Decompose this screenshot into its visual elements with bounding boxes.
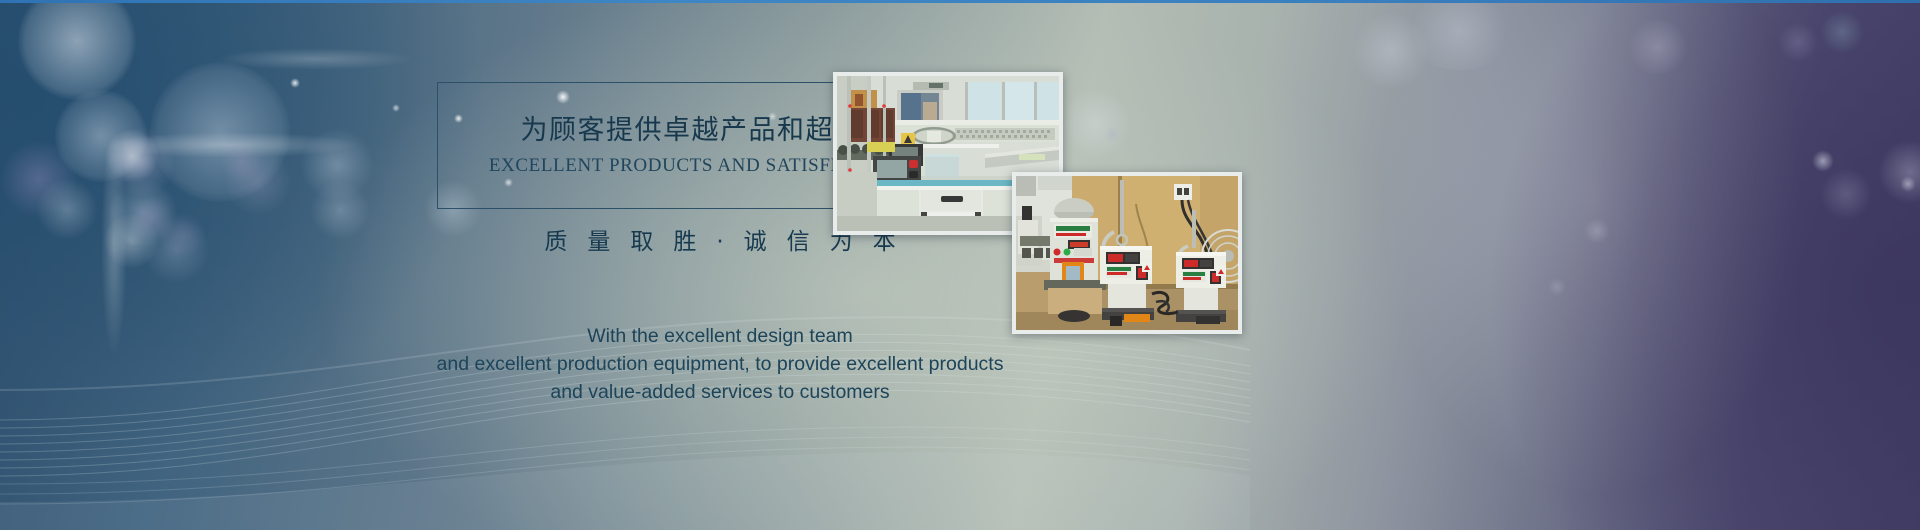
top-accent-rule bbox=[0, 0, 1920, 3]
description-line-1: With the excellent design team bbox=[330, 322, 1110, 350]
press-machines-photo-content bbox=[1016, 176, 1238, 330]
description-line-2: and excellent production equipment, to p… bbox=[330, 350, 1110, 378]
promotional-banner: 为顾客提供卓越产品和超值服务 EXCELLENT PRODUCTS AND SA… bbox=[0, 0, 1920, 530]
press-machines-photo bbox=[1012, 172, 1242, 334]
description-paragraph: With the excellent design team and excel… bbox=[330, 322, 1110, 406]
description-line-3: and value-added services to customers bbox=[330, 378, 1110, 406]
